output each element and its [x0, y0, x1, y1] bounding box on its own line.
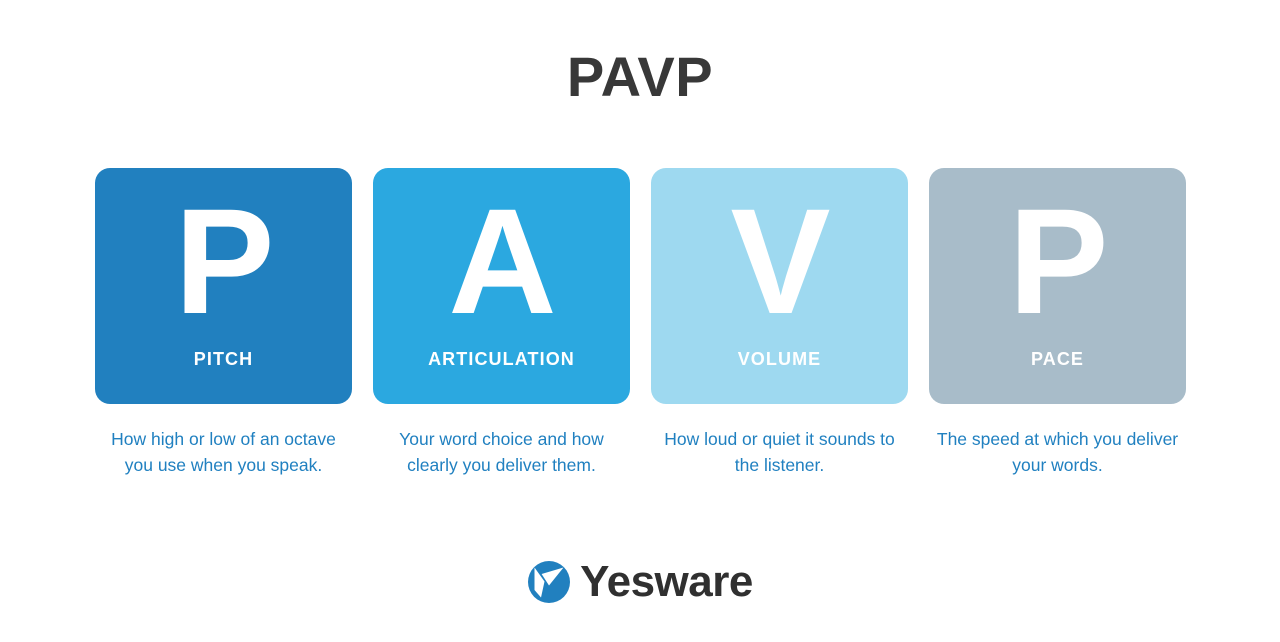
- card-volume[interactable]: V VOLUME: [651, 168, 908, 404]
- card-pace[interactable]: P PACE: [929, 168, 1186, 404]
- card-letter-volume: V: [730, 186, 828, 336]
- card-column-articulation: A ARTICULATION Your word choice and how …: [373, 168, 630, 478]
- card-letter-pace: P: [1008, 186, 1106, 336]
- card-caption-pitch: How high or low of an octave you use whe…: [99, 426, 349, 478]
- card-label-pace: PACE: [929, 348, 1186, 370]
- card-letter-pitch: P: [174, 186, 272, 336]
- card-column-pace: P PACE The speed at which you deliver yo…: [929, 168, 1186, 478]
- page-title: PAVP: [0, 44, 1280, 110]
- card-column-volume: V VOLUME How loud or quiet it sounds to …: [651, 168, 908, 478]
- card-caption-articulation: Your word choice and how clearly you del…: [377, 426, 627, 478]
- card-column-pitch: P PITCH How high or low of an octave you…: [95, 168, 352, 478]
- card-caption-volume: How loud or quiet it sounds to the liste…: [655, 426, 905, 478]
- card-label-volume: VOLUME: [651, 348, 908, 370]
- card-letter-articulation: A: [448, 186, 554, 336]
- card-pitch[interactable]: P PITCH: [95, 168, 352, 404]
- brand-wordmark: Yesware: [580, 560, 753, 604]
- card-label-articulation: ARTICULATION: [373, 348, 630, 370]
- card-articulation[interactable]: A ARTICULATION: [373, 168, 630, 404]
- card-caption-pace: The speed at which you deliver your word…: [933, 426, 1183, 478]
- yesware-y-circle-icon: [527, 560, 571, 604]
- card-grid: P PITCH How high or low of an octave you…: [95, 168, 1185, 478]
- card-label-pitch: PITCH: [95, 348, 352, 370]
- infographic-page: PAVP P PITCH How high or low of an octav…: [0, 0, 1280, 642]
- brand-footer: Yesware: [0, 560, 1280, 604]
